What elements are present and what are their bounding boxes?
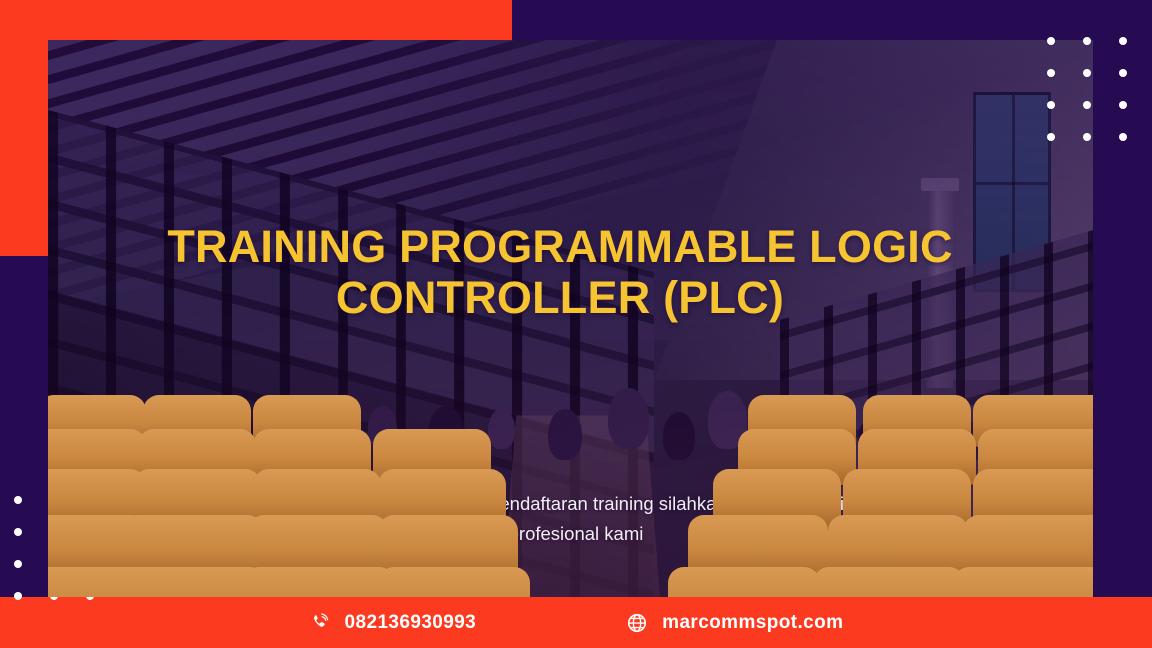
- auditorium-seat: [1048, 567, 1093, 597]
- decor-dot: [14, 560, 22, 568]
- page-title: TRAINING PROGRAMMABLE LOGIC CONTROLLER (…: [140, 222, 980, 324]
- decor-dot: [1083, 133, 1091, 141]
- decor-dot: [1083, 37, 1091, 45]
- decor-dot: [1083, 69, 1091, 77]
- decor-dot: [1083, 101, 1091, 109]
- decor-dot: [1119, 37, 1127, 45]
- decor-dot: [1119, 101, 1127, 109]
- poster-canvas: TRAINING PROGRAMMABLE LOGIC CONTROLLER (…: [0, 0, 1152, 648]
- decor-dot: [1047, 37, 1055, 45]
- contact-phone[interactable]: 082136930993: [309, 612, 477, 634]
- globe-icon: [626, 612, 648, 634]
- phone-icon: [309, 612, 331, 634]
- contact-website[interactable]: marcommspot.com: [626, 612, 843, 634]
- auditorium-seat: [378, 567, 530, 597]
- auditorium-seat: [668, 567, 820, 597]
- decor-dot: [1119, 133, 1127, 141]
- decor-dot: [14, 496, 22, 504]
- auditorium-seat: [243, 567, 395, 597]
- auditorium-seat: [813, 567, 965, 597]
- website-url: marcommspot.com: [662, 612, 843, 634]
- decor-dot: [1047, 69, 1055, 77]
- decor-dot: [1119, 69, 1127, 77]
- dot-grid-top-right: [1047, 37, 1127, 141]
- red-left-bar: [0, 0, 48, 256]
- red-top-bar: [0, 0, 512, 40]
- phone-number: 082136930993: [345, 612, 477, 634]
- contact-footer: 082136930993 marcommspot.com: [0, 597, 1152, 648]
- decor-dot: [14, 528, 22, 536]
- decor-dot: [1047, 133, 1055, 141]
- decor-dot: [1047, 101, 1055, 109]
